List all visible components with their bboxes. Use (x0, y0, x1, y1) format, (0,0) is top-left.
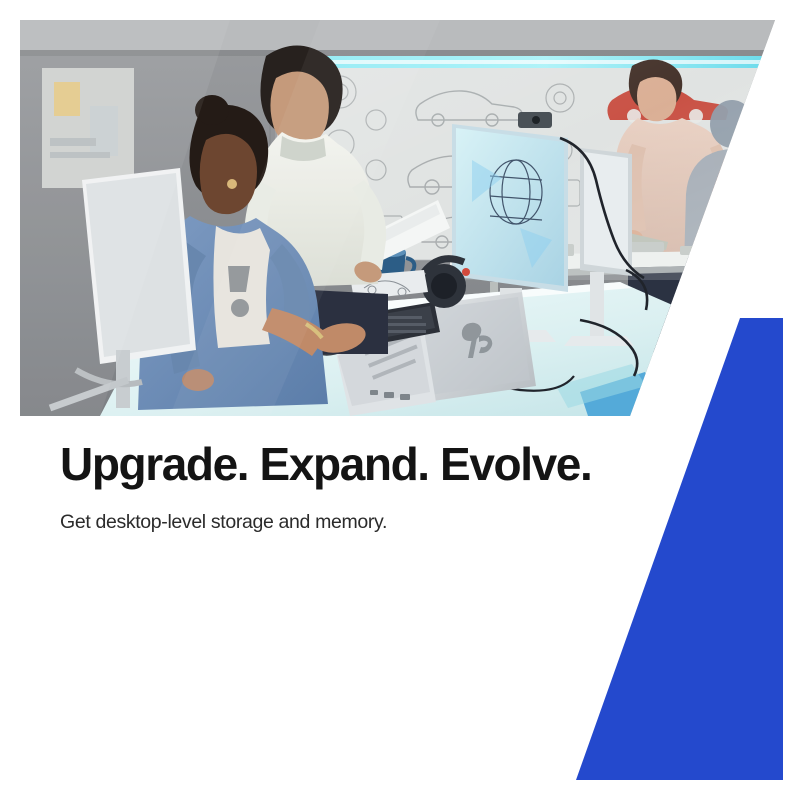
hero-photo-illustration (20, 20, 775, 416)
page-subtitle: Get desktop-level storage and memory. (60, 510, 680, 535)
poster-canvas: Upgrade. Expand. Evolve. Get desktop-lev… (0, 0, 800, 800)
page-title: Upgrade. Expand. Evolve. (60, 440, 680, 490)
copy-block: Upgrade. Expand. Evolve. Get desktop-lev… (60, 440, 680, 535)
hero-photo (20, 20, 775, 416)
